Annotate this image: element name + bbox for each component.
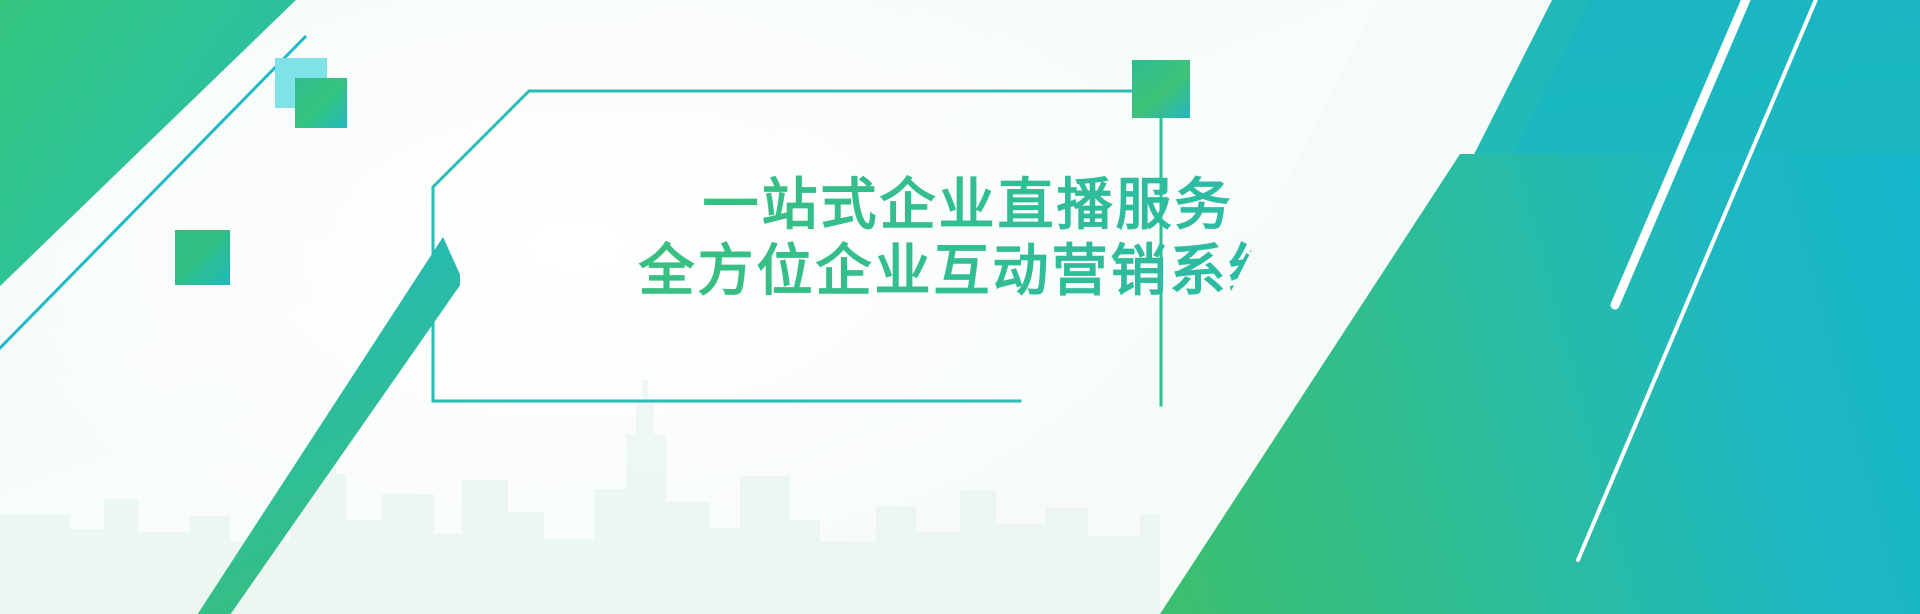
hero-banner: 一站式企业直播服务 全方位企业互动营销系统 <box>0 0 1920 614</box>
right-white-diagonal-lines-icon <box>1500 0 1920 614</box>
decor-square-green-overlap <box>295 78 347 128</box>
decor-square-green-left <box>175 230 230 285</box>
frame-corner-square <box>1132 60 1190 118</box>
thin-diagonal-line-icon <box>0 28 320 358</box>
